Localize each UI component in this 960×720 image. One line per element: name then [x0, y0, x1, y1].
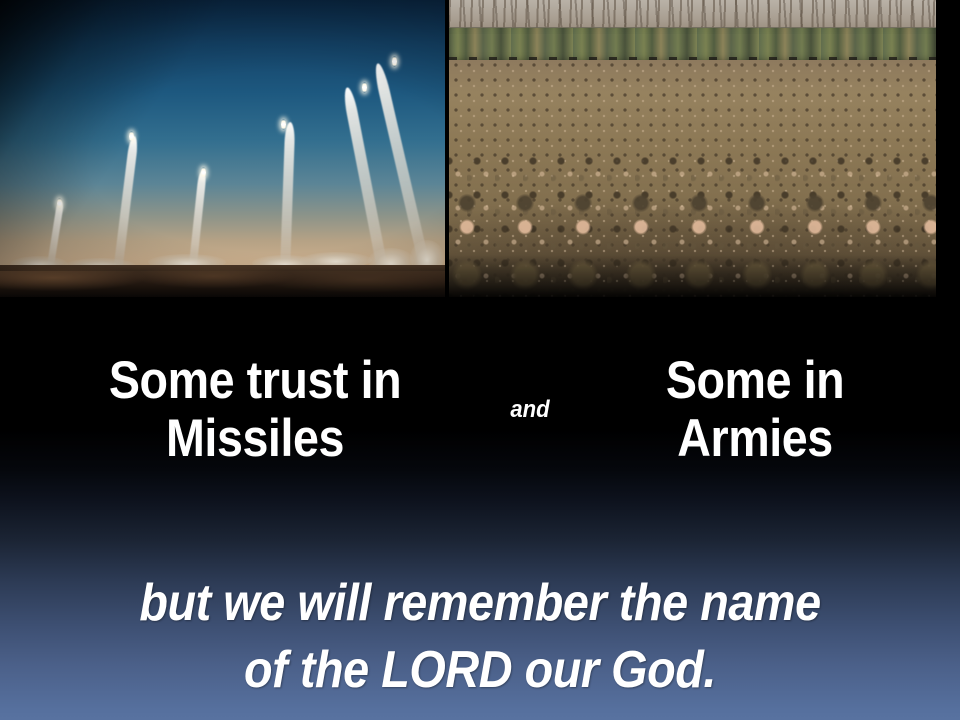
conjunction-and: and	[475, 396, 585, 424]
soldiers-formation-photo	[449, 0, 936, 297]
right-phrase-line-2: Armies	[610, 410, 900, 468]
closing-phrase: but we will remember the name of the LOR…	[48, 570, 912, 703]
closing-phrase-line-1: but we will remember the name	[48, 570, 912, 637]
left-phrase: Some trust in Missiles	[57, 352, 453, 469]
missile-launch-photo	[0, 0, 445, 297]
slide-canvas: Some trust in Missiles and Some in Armie…	[0, 0, 960, 720]
photo-bottom-shadow	[449, 255, 936, 297]
left-phrase-line-2: Missiles	[57, 410, 453, 468]
photo-vignette	[0, 0, 445, 271]
left-phrase-line-1: Some trust in	[57, 352, 453, 410]
right-phrase-line-1: Some in	[610, 352, 900, 410]
right-phrase: Some in Armies	[610, 352, 900, 469]
closing-phrase-line-2: of the LORD our God.	[48, 637, 912, 704]
